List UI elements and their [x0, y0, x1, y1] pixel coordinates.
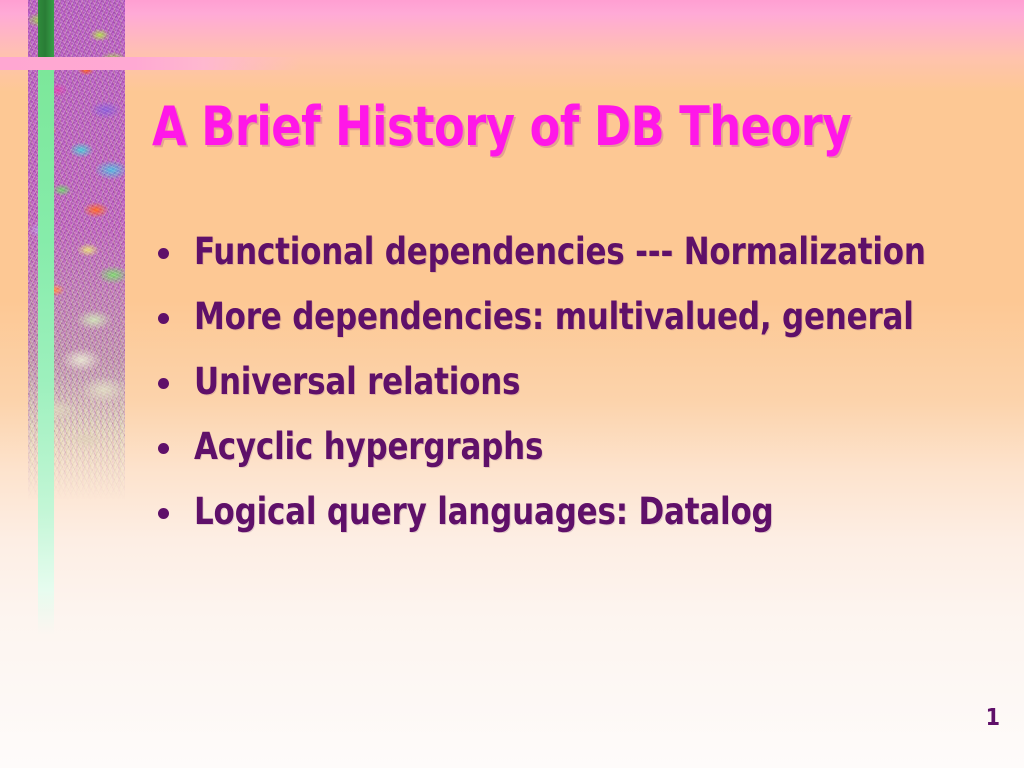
- bullet-item-2: More dependencies: multivalued, general: [152, 293, 1012, 358]
- bullet-item-label: More dependencies: multivalued, general: [194, 293, 914, 341]
- bullet-item-5: Logical query languages: Datalog: [152, 488, 1012, 553]
- bullet-item-4: Acyclic hypergraphs: [152, 423, 1012, 488]
- bullet-item-3: Universal relations: [152, 358, 1012, 423]
- page-number: 1: [986, 707, 1000, 730]
- pink-horizontal-rule: [0, 57, 300, 70]
- mottled-texture-strip-image: [28, 0, 125, 500]
- bullet-item-label: Logical query languages: Datalog: [194, 488, 774, 536]
- bullet-item-label: Universal relations: [194, 358, 520, 406]
- bullet-dot-icon: [158, 248, 169, 259]
- bullet-item-1: Functional dependencies --- Normalizatio…: [152, 228, 1012, 293]
- slide-title: A Brief History of DB Theory: [152, 98, 906, 156]
- bullet-dot-icon: [158, 313, 169, 324]
- bullet-item-label: Functional dependencies --- Normalizatio…: [194, 228, 926, 276]
- slide: A Brief History of DB Theory Functional …: [0, 0, 1024, 768]
- bullet-item-label: Acyclic hypergraphs: [194, 423, 543, 471]
- bullet-dot-icon: [158, 378, 169, 389]
- green-vertical-bar-top: [38, 0, 54, 57]
- bullet-list: Functional dependencies --- Normalizatio…: [152, 228, 1012, 553]
- green-vertical-bar-bottom: [38, 70, 54, 635]
- bullet-dot-icon: [158, 443, 169, 454]
- bullet-dot-icon: [158, 508, 169, 519]
